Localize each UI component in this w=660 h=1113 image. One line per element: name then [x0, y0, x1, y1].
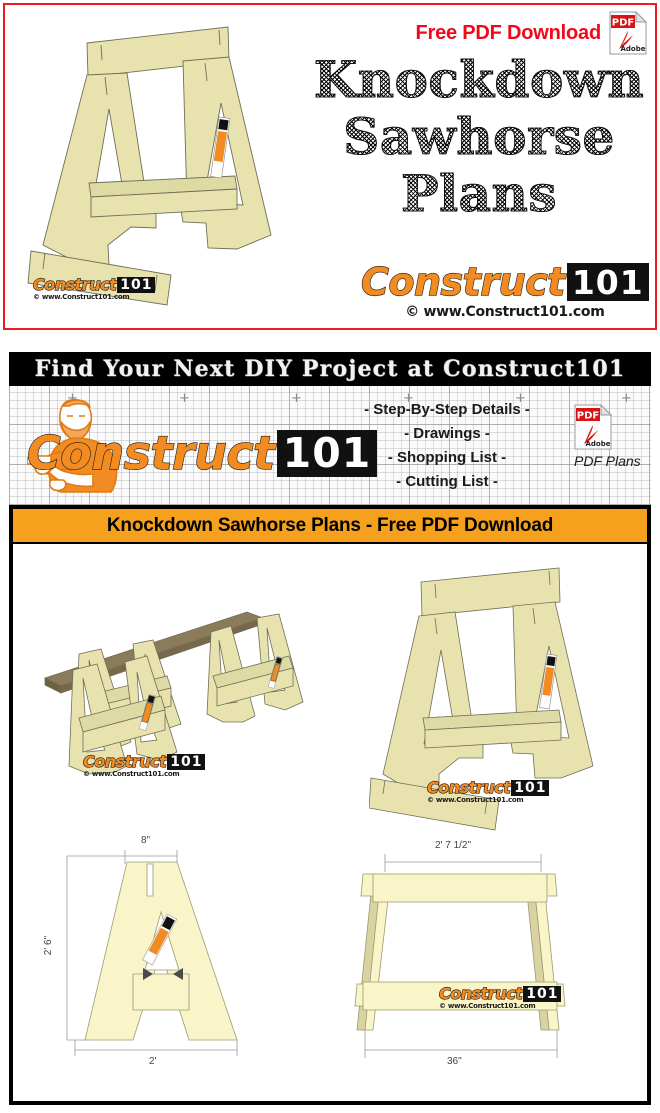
diy-promo-banner: Find Your Next DIY Project at Construct1… [9, 352, 651, 386]
crosshair-mark-icon: + [291, 392, 302, 405]
drawing-watermark: Construct 101 © www.Construct101.com [439, 986, 561, 1010]
hero-title: Knockdown Sawhorse Plans [301, 51, 657, 222]
promo-feature-item: - Shopping List - [347, 446, 547, 470]
promo-brand-logo[interactable]: Construct 101 [27, 430, 377, 477]
brand-101: 101 [511, 780, 549, 796]
brand-word: Construct [427, 780, 510, 796]
promo-feature-list: - Step-By-Step Details - - Drawings - - … [347, 398, 547, 494]
promo-pdf-plans[interactable]: PDF Adobe PDF Plans [574, 404, 641, 469]
free-pdf-download-row[interactable]: Free PDF Download PDF Adobe [415, 11, 647, 55]
drawing-sawhorse-exploded: Construct 101 © www.Construct101.com [369, 560, 619, 845]
brand-url: © www.Construct101.com [439, 1003, 561, 1010]
hero-panel: Construct 101 © www.Construct101.com Fre… [3, 3, 657, 330]
svg-text:PDF: PDF [612, 18, 634, 29]
brand-word: Construct [83, 754, 166, 770]
plans-panel: Knockdown Sawhorse Plans - Free PDF Down… [9, 505, 651, 1105]
free-pdf-download-label: Free PDF Download [415, 22, 601, 45]
drawing-watermark: Construct 101 © www.Construct101.com [83, 754, 205, 778]
promo-panel: + + + + + + [9, 386, 651, 505]
brand-url: © www.Construct101.com [427, 797, 549, 804]
brand-word: Construct [33, 277, 116, 293]
brand-101: 101 [523, 986, 561, 1002]
pdf-adobe-icon[interactable]: PDF Adobe [609, 11, 647, 55]
brand-101: 101 [117, 277, 155, 293]
svg-text:Adobe: Adobe [586, 440, 611, 448]
drawing-sawhorse-front-elevation: 8" 2' 6" 2' [37, 834, 287, 1089]
diy-promo-banner-text: Find Your Next DIY Project at Construct1… [35, 356, 626, 382]
brand-word: Construct [27, 430, 275, 477]
brand-url: © www.Construct101.com [83, 771, 205, 778]
hero-illustration-watermark: Construct 101 © www.Construct101.com [33, 277, 155, 301]
brand-101: 101 [167, 754, 205, 770]
dimension-side-bottom-width: 36" [447, 1056, 462, 1067]
drawing-watermark: Construct 101 © www.Construct101.com [427, 780, 549, 804]
brand-word: Construct [439, 986, 522, 1002]
brand-url: © www.Construct101.com [361, 305, 649, 319]
hero-brand-logo[interactable]: Construct 101 © www.Construct101.com [361, 263, 649, 319]
plans-title-text: Knockdown Sawhorse Plans - Free PDF Down… [107, 515, 553, 537]
dimension-side-top-width: 2' 7 1/2" [435, 840, 471, 851]
hero-title-line-2: Sawhorse [301, 108, 657, 165]
pdf-plans-caption: PDF Plans [574, 453, 641, 469]
drawing-sawhorse-side-elevation: 2' 7 1/2" 36" Construct 101 © www.Constr… [343, 834, 613, 1089]
pdf-adobe-icon[interactable]: PDF Adobe [574, 404, 612, 448]
hero-title-line-3: Plans [301, 165, 657, 222]
brand-url: © www.Construct101.com [33, 294, 155, 301]
hero-title-line-1: Knockdown [301, 51, 657, 108]
dimension-front-top-width: 8" [141, 835, 150, 846]
crosshair-mark-icon: + [179, 392, 190, 405]
promo-feature-item: - Drawings - [347, 422, 547, 446]
plans-title-bar: Knockdown Sawhorse Plans - Free PDF Down… [13, 509, 647, 544]
promo-feature-item: - Step-By-Step Details - [347, 398, 547, 422]
dimension-front-height: 2' 6" [43, 936, 54, 955]
dimension-front-bottom-width: 2' [149, 1056, 156, 1067]
plans-drawing-grid: Construct 101 © www.Construct101.com [13, 544, 647, 1099]
brand-101: 101 [567, 263, 649, 301]
brand-word: Construct [361, 263, 565, 301]
promo-feature-item: - Cutting List - [347, 470, 547, 494]
drawing-sawhorse-pair-with-board: Construct 101 © www.Construct101.com [35, 566, 315, 821]
svg-text:PDF: PDF [577, 411, 599, 422]
